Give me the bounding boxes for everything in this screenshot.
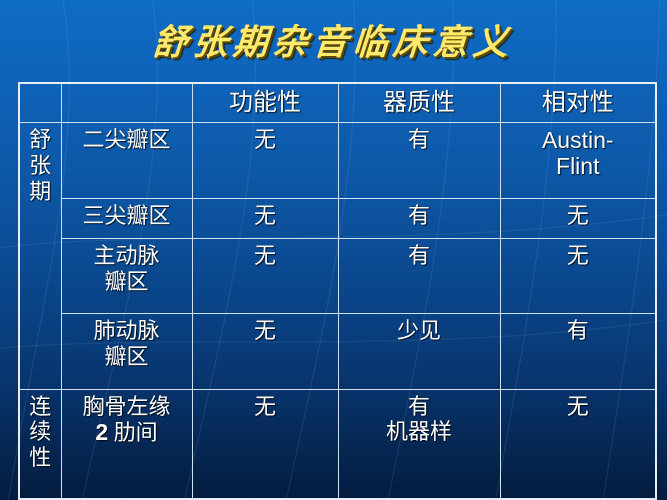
group-label-char: 张 [22, 153, 59, 179]
group-label-char: 舒 [22, 127, 59, 153]
cell-functional: 无 [192, 198, 338, 239]
table-container: 功能性 器质性 相对性 舒 张 期 二尖瓣区 无 [18, 82, 655, 500]
cell-site: 主动脉 瓣区 [61, 239, 192, 314]
group-label-char: 续 [22, 419, 59, 445]
site-line: 胸骨左缘 [64, 394, 190, 420]
slide-title-bar: 舒张期杂音临床意义 [0, 10, 667, 68]
cell-relative: 无 [500, 389, 656, 499]
cell-functional: 无 [192, 389, 338, 499]
value-line: 有 [503, 318, 654, 344]
site-line: 瓣区 [64, 269, 190, 295]
site-line: 二尖瓣区 [64, 127, 190, 153]
value-line: 无 [503, 394, 654, 420]
cell-relative: 无 [500, 239, 656, 314]
site-line: 主动脉 [64, 243, 190, 269]
site-line: 三尖瓣区 [64, 203, 190, 229]
murmur-table: 功能性 器质性 相对性 舒 张 期 二尖瓣区 无 [18, 82, 657, 500]
value-line: 少见 [341, 318, 498, 344]
value-line: 无 [503, 243, 654, 269]
table-row: 肺动脉 瓣区 无 少见 有 [19, 314, 656, 389]
site-line: 瓣区 [64, 344, 190, 370]
group-label-char: 性 [22, 445, 59, 471]
header-cell-organic: 器质性 [338, 83, 500, 122]
cell-site: 二尖瓣区 [61, 122, 192, 198]
site-line: 肺动脉 [64, 318, 190, 344]
value-line: 无 [195, 243, 336, 269]
slide-canvas: 舒张期杂音临床意义 功能性 器质性 相对性 舒 [0, 0, 667, 500]
cell-site: 肺动脉 瓣区 [61, 314, 192, 389]
cell-site: 胸骨左缘 2 肋间 [61, 389, 192, 499]
cell-functional: 无 [192, 314, 338, 389]
value-line: 无 [195, 127, 336, 153]
cell-functional: 无 [192, 122, 338, 198]
cell-relative: 有 [500, 314, 656, 389]
cell-organic: 少见 [338, 314, 500, 389]
value-line: 机器样 [341, 419, 498, 445]
value-line: Flint [503, 153, 654, 179]
cell-organic: 有 [338, 122, 500, 198]
interspace-number: 2 [95, 419, 108, 445]
cell-organic: 有 [338, 239, 500, 314]
value-line: Austin- [503, 127, 654, 153]
header-cell-functional: 功能性 [192, 83, 338, 122]
cell-relative: 无 [500, 198, 656, 239]
header-cell-relative: 相对性 [500, 83, 656, 122]
cell-organic: 有 机器样 [338, 389, 500, 499]
value-line: 有 [341, 127, 498, 153]
value-line: 有 [341, 243, 498, 269]
group-label-char: 期 [22, 179, 59, 205]
value-line: 无 [503, 203, 654, 229]
header-cell-corner-a [19, 83, 61, 122]
cell-site: 三尖瓣区 [61, 198, 192, 239]
group-label-diastolic: 舒 张 期 [19, 122, 61, 389]
value-line: 无 [195, 318, 336, 344]
value-line: 有 [341, 394, 498, 420]
group-label-continuous: 连 续 性 [19, 389, 61, 499]
cell-organic: 有 [338, 198, 500, 239]
value-line: 无 [195, 203, 336, 229]
cell-relative: Austin- Flint [500, 122, 656, 198]
site-line: 2 肋间 [64, 419, 190, 446]
header-cell-corner-b [61, 83, 192, 122]
page-title: 舒张期杂音临床意义 [152, 14, 516, 65]
value-line: 有 [341, 203, 498, 229]
table-row: 三尖瓣区 无 有 无 [19, 198, 656, 239]
table-header-row: 功能性 器质性 相对性 [19, 83, 656, 122]
value-line: 无 [195, 394, 336, 420]
group-label-char: 连 [22, 394, 59, 420]
cell-functional: 无 [192, 239, 338, 314]
table-row: 主动脉 瓣区 无 有 无 [19, 239, 656, 314]
table-row: 连 续 性 胸骨左缘 2 肋间 无 有 机器样 [19, 389, 656, 499]
table-row: 舒 张 期 二尖瓣区 无 有 Austin- Flint [19, 122, 656, 198]
